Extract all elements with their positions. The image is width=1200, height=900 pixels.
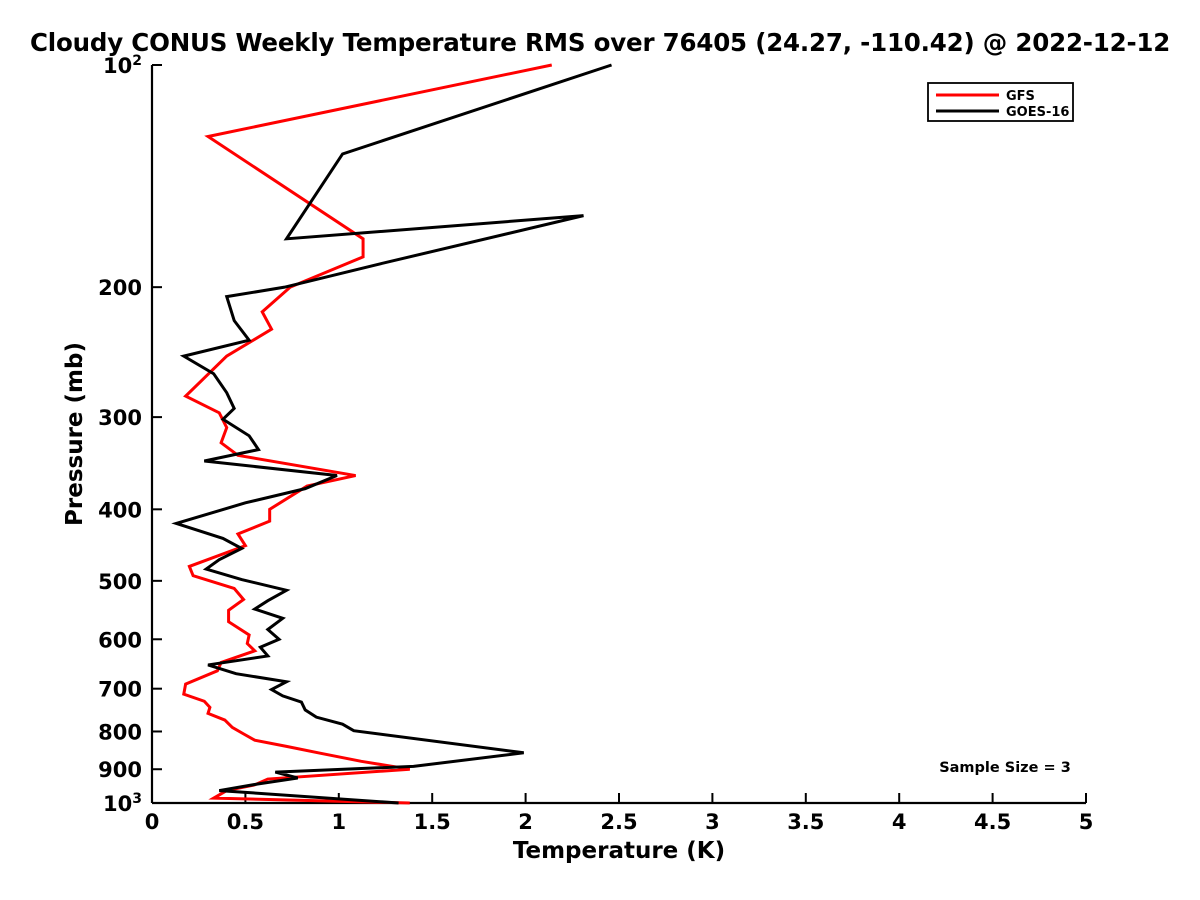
y-tick-label: 102 <box>103 53 142 78</box>
legend-label-goes16: GOES-16 <box>1006 105 1069 120</box>
x-tick-labels: 00.511.522.533.544.55 <box>145 810 1094 834</box>
y-tick-label: 700 <box>98 678 142 702</box>
x-tick-label: 2 <box>518 810 533 834</box>
x-tick-label: 4 <box>892 810 907 834</box>
y-axis-label: Pressure (mb) <box>62 342 88 526</box>
y-tick-label: 500 <box>98 570 142 594</box>
y-tick-labels: 102200300400500600700800900103 <box>98 53 142 816</box>
y-tick-label: 300 <box>98 406 142 430</box>
x-tick-label: 1.5 <box>414 810 451 834</box>
figure-canvas: Cloudy CONUS Weekly Temperature RMS over… <box>0 0 1200 900</box>
x-tick-label: 4.5 <box>974 810 1011 834</box>
x-tick-label: 0.5 <box>227 810 264 834</box>
y-tick-label: 900 <box>98 758 142 782</box>
x-axis-label: Temperature (K) <box>513 838 725 864</box>
y-tick-label: 600 <box>98 628 142 652</box>
x-tick-label: 0 <box>145 810 160 834</box>
y-tick-label: 103 <box>103 791 142 816</box>
y-tick-label: 200 <box>98 276 142 300</box>
series-line-gfs <box>184 65 552 803</box>
x-tick-label: 5 <box>1079 810 1094 834</box>
x-tick-label: 3 <box>705 810 720 834</box>
x-tick-label: 2.5 <box>600 810 637 834</box>
x-tick-label: 3.5 <box>787 810 824 834</box>
axis-spines-group <box>152 65 1086 803</box>
series-line-goes-16 <box>176 65 611 803</box>
data-series-group <box>176 65 611 803</box>
chart-plot-area: 00.511.522.533.544.55 102200300400500600… <box>0 0 1200 900</box>
y-tick-label: 400 <box>98 498 142 522</box>
sample-size-annotation: Sample Size = 3 <box>939 760 1071 776</box>
axis-ticks-group <box>152 65 1086 803</box>
x-tick-label: 1 <box>331 810 346 834</box>
legend[interactable]: GFS GOES-16 <box>928 83 1073 121</box>
y-tick-label: 800 <box>98 720 142 744</box>
legend-label-gfs: GFS <box>1006 89 1035 104</box>
